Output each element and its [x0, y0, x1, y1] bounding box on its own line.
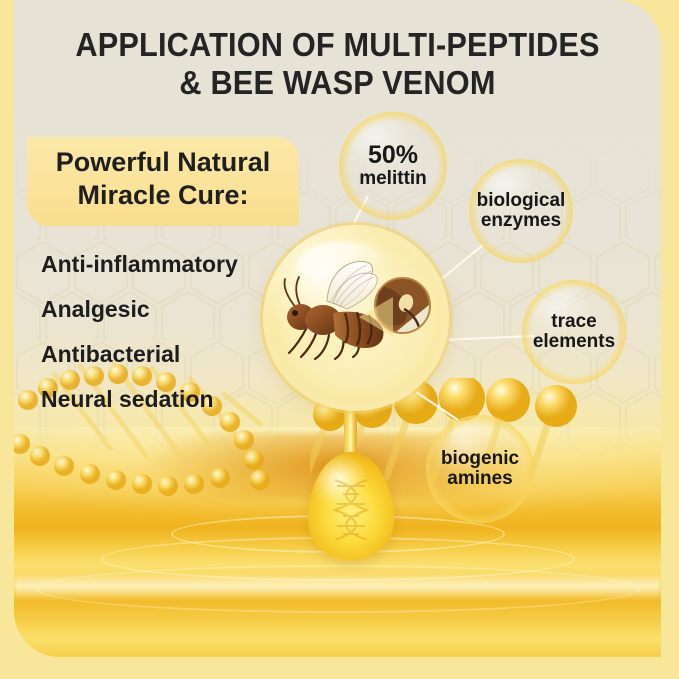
benefit-item: Neural sedation: [41, 388, 311, 411]
benefit-item: Anti-inflammatory: [41, 253, 311, 276]
infographic-poster: APPLICATION OF MULTI-PEPTIDES & BEE WASP…: [0, 0, 679, 679]
melittin-label: melittin: [359, 169, 427, 189]
bubble-biological-enzymes: biological enzymes: [469, 159, 573, 263]
heading-line-1: Powerful Natural: [56, 147, 271, 177]
enzymes-line-1: biological: [477, 190, 566, 211]
bubble-trace-elements: trace elements: [522, 280, 626, 384]
poster-title: APPLICATION OF MULTI-PEPTIDES & BEE WASP…: [37, 26, 639, 101]
benefits-list: Anti-inflammatory Analgesic Antibacteria…: [41, 253, 311, 411]
trace-line-2: elements: [533, 331, 615, 352]
title-line-2: & BEE WASP VENOM: [37, 64, 639, 102]
stinger-detail-icon: [376, 279, 429, 332]
benefit-item: Antibacterial: [41, 343, 311, 366]
bubble-biogenic-amines: biogenic amines: [426, 415, 534, 523]
content-plate: APPLICATION OF MULTI-PEPTIDES & BEE WASP…: [14, 0, 661, 657]
biogenic-line-1: biogenic: [441, 448, 519, 469]
heading-line-2: Miracle Cure:: [77, 180, 248, 210]
title-line-1: APPLICATION OF MULTI-PEPTIDES: [75, 26, 599, 63]
benefit-item: Analgesic: [41, 298, 311, 321]
enzymes-line-2: enzymes: [481, 210, 561, 231]
drop-dna-icon: [329, 478, 373, 540]
trace-line-1: trace: [551, 311, 596, 332]
heading-box: Powerful Natural Miracle Cure:: [27, 137, 299, 226]
biogenic-line-2: amines: [447, 468, 512, 489]
magnifier-cone: [359, 297, 393, 337]
melittin-value: 50%: [359, 142, 427, 169]
stinger-magnifier-inset: [374, 277, 431, 334]
bubble-melittin: 50% melittin: [339, 112, 447, 220]
